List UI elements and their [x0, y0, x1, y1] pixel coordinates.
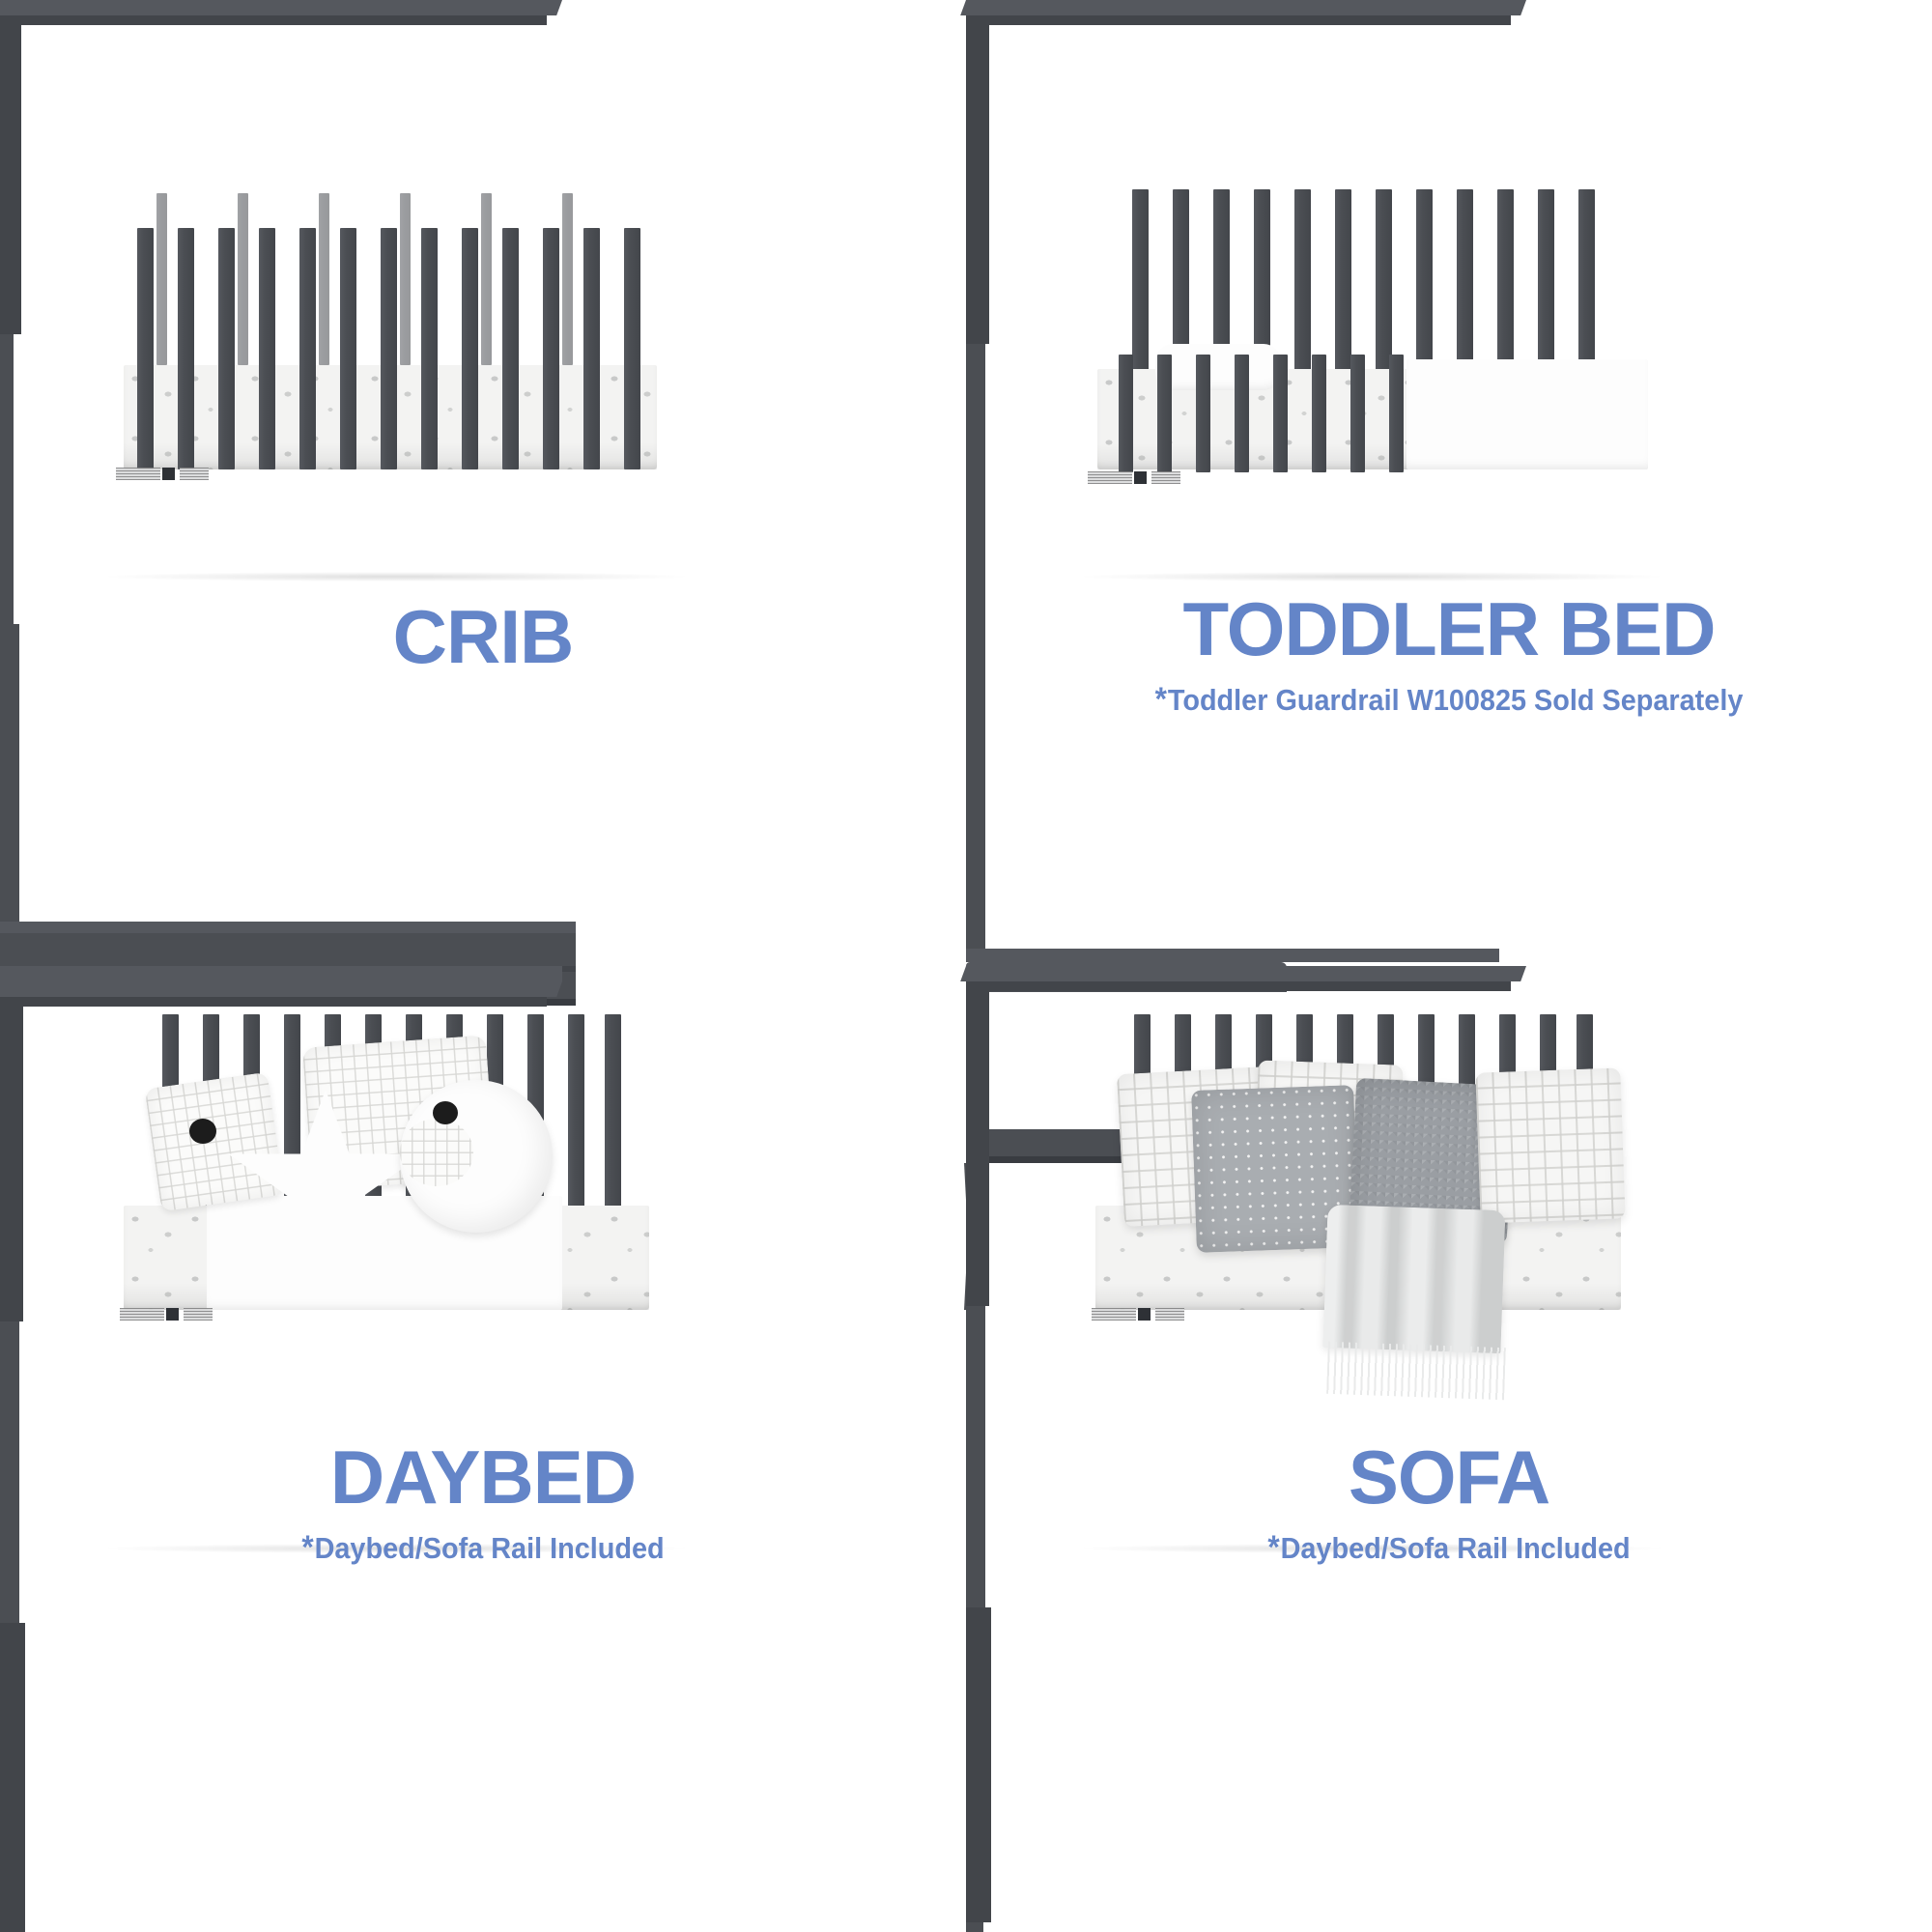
plush-moon-cheek	[400, 1119, 473, 1186]
sofa-back-rail-shadow	[966, 981, 1511, 991]
panel-sofa: SOFA *Daybed/Sofa Rail Included	[966, 966, 1932, 1932]
crib-warning-sticker-2	[180, 468, 209, 480]
crib-front-top-rail-highlight	[0, 922, 576, 933]
plush-eye-moon	[433, 1101, 458, 1124]
crib-warning-sticker	[116, 468, 160, 480]
toddler-back-rail-cap	[966, 949, 1499, 962]
toddler-note: *Toddler Guardrail W100825 Sold Separate…	[1000, 682, 1898, 718]
sofa-endpanel-left-outer	[966, 991, 989, 1306]
daybed-endpanel-left-outer	[0, 1007, 23, 1321]
toddler-note-text: Toddler Guardrail W100825 Sold Separatel…	[1168, 683, 1744, 717]
sofa-pillow-white-3	[1475, 1067, 1625, 1223]
sofa-note: *Daybed/Sofa Rail Included	[1000, 1530, 1898, 1566]
sofa-title: SOFA	[966, 1439, 1932, 1515]
daybed-sticker-mark	[166, 1308, 179, 1321]
daybed-note: *Daybed/Sofa Rail Included	[34, 1530, 932, 1566]
toddler-bed-illustration	[966, 0, 1932, 580]
toddler-floor-shadow	[1082, 572, 1662, 582]
asterisk-icon: *	[1267, 1529, 1280, 1566]
crib-caption: CRIB	[0, 599, 966, 674]
sofa-caption: SOFA *Daybed/Sofa Rail Included	[966, 1439, 1932, 1566]
toddler-back-top-rail	[960, 0, 1526, 15]
daybed-spacer	[0, 966, 562, 981]
panel-toddler-bed: TODDLER BED *Toddler Guardrail W100825 S…	[966, 0, 1932, 966]
crib-sticker-mark	[162, 468, 175, 480]
toddler-warning-sticker-2	[1151, 471, 1180, 484]
toddler-back-rail-shadow	[966, 15, 1511, 25]
sofa-note-text: Daybed/Sofa Rail Included	[1281, 1531, 1631, 1565]
product-configuration-board: CRIB	[0, 0, 1932, 1932]
sofa-endpanel-right-outer	[966, 1607, 991, 1922]
crib-back-top-rail	[0, 0, 562, 15]
crib-post-left-inner	[0, 334, 14, 624]
plush-eye-left	[189, 1119, 216, 1144]
sofa-endpanel-right-inner	[966, 1922, 983, 1932]
toddler-endpanel-left-outer	[966, 25, 989, 344]
daybed-warning-sticker	[120, 1308, 164, 1321]
plush-waffle-pillow-left	[145, 1072, 285, 1212]
daybed-back-rail-shadow	[0, 997, 547, 1007]
toddler-sticker-mark	[1134, 471, 1147, 484]
toddler-mattress-shading	[1097, 443, 1416, 469]
daybed-warning-sticker-2	[184, 1308, 213, 1321]
sofa-throw-fringe	[1326, 1342, 1506, 1400]
sofa-sticker-mark	[1138, 1308, 1151, 1321]
crib-title: CRIB	[0, 599, 966, 674]
crib-post-left	[0, 25, 21, 334]
toddler-pillow	[1155, 344, 1281, 390]
daybed-title: DAYBED	[0, 1439, 966, 1515]
panel-daybed: DAYBED *Daybed/Sofa Rail Included	[0, 966, 966, 1932]
daybed-back-top-rail	[0, 981, 562, 997]
crib-front-top-rail	[0, 933, 576, 966]
daybed-caption: DAYBED *Daybed/Sofa Rail Included	[0, 1439, 966, 1566]
toddler-sheet	[1406, 359, 1648, 469]
daybed-note-text: Daybed/Sofa Rail Included	[315, 1531, 665, 1565]
sofa-warning-sticker-2	[1155, 1308, 1184, 1321]
sofa-back-top-rail	[960, 966, 1526, 981]
panel-crib: CRIB	[0, 0, 966, 966]
toddler-title: TODDLER BED	[966, 591, 1932, 667]
toddler-caption: TODDLER BED *Toddler Guardrail W100825 S…	[966, 591, 1932, 718]
crib-back-rail-shadow	[0, 15, 547, 25]
asterisk-icon: *	[301, 1529, 314, 1566]
crib-illustration	[0, 0, 966, 580]
toddler-warning-sticker	[1088, 471, 1132, 484]
daybed-endpanel-right-outer	[0, 1623, 25, 1932]
crib-floor-shadow	[106, 572, 686, 582]
sofa-throw-blanket	[1322, 1205, 1505, 1353]
asterisk-icon: *	[1155, 681, 1168, 718]
sofa-warning-sticker	[1092, 1308, 1136, 1321]
